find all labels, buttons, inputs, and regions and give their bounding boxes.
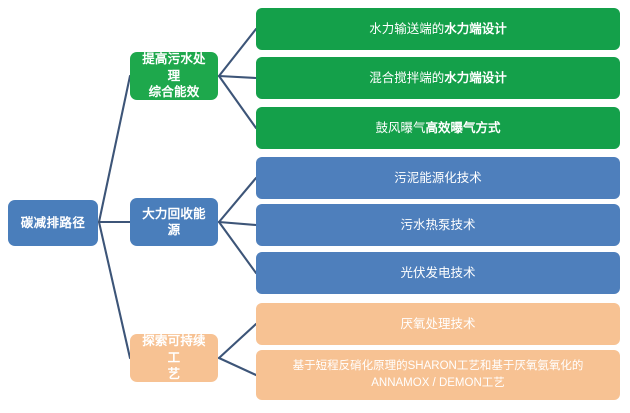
leaf-node-label: 光伏发电技术: [262, 265, 614, 282]
leaf-node-label: 混合搅拌端的水力端设计: [262, 70, 614, 87]
leaf-label-prefix: 鼓风曝气: [375, 121, 425, 135]
leaf-node-sludge-energy-technology[interactable]: 污泥能源化技术: [256, 157, 620, 199]
leaf-label-line2: ANNAMOX / DEMON工艺: [371, 377, 505, 389]
branch-node-sustainable-process[interactable]: 探索可持续工艺: [130, 334, 218, 382]
leaf-node-sewage-heat-pump-technology[interactable]: 污水热泵技术: [256, 204, 620, 246]
root-node-carbon-reduction-path[interactable]: 碳减排路径: [8, 200, 98, 246]
branch-label-line1: 探索可持续工: [142, 334, 206, 365]
branch-node-label: 提高污水处理综合能效: [136, 51, 212, 101]
leaf-node-label: 污泥能源化技术: [262, 170, 614, 187]
leaf-node-hydraulic-transport-design[interactable]: 水力输送端的水力端设计: [256, 8, 620, 50]
leaf-node-label: 污水热泵技术: [262, 217, 614, 234]
leaf-node-mixing-stirring-design[interactable]: 混合搅拌端的水力端设计: [256, 57, 620, 99]
leaf-node-label: 厌氧处理技术: [262, 316, 614, 333]
leaf-node-anaerobic-treatment-technology[interactable]: 厌氧处理技术: [256, 303, 620, 345]
leaf-node-label: 鼓风曝气高效曝气方式: [262, 120, 614, 137]
branch-node-recover-energy[interactable]: 大力回收能源: [130, 198, 218, 246]
edge-branch-1-leaf-1: [219, 29, 256, 76]
edge-branch-1-leaf-3: [219, 76, 256, 128]
edge-branch-1-leaf-2: [219, 76, 256, 78]
edge-root-to-branch-1: [99, 76, 130, 222]
leaf-node-blower-aeration-method[interactable]: 鼓风曝气高效曝气方式: [256, 107, 620, 149]
edge-branch-2-leaf-3: [219, 222, 256, 273]
leaf-node-photovoltaic-power-technology[interactable]: 光伏发电技术: [256, 252, 620, 294]
branch-label-line1: 提高污水处理: [142, 52, 206, 83]
branch-node-improve-efficiency[interactable]: 提高污水处理综合能效: [130, 52, 218, 100]
leaf-node-sharon-annamox-demon-process[interactable]: 基于短程反硝化原理的SHARON工艺和基于厌氧氨氧化的ANNAMOX / DEM…: [256, 350, 620, 400]
root-node-label: 碳减排路径: [14, 215, 92, 232]
leaf-node-label: 基于短程反硝化原理的SHARON工艺和基于厌氧氨氧化的ANNAMOX / DEM…: [262, 358, 614, 391]
edge-branch-2-leaf-1: [219, 178, 256, 222]
leaf-label-prefix: 混合搅拌端的: [369, 71, 444, 85]
leaf-node-label: 水力输送端的水力端设计: [262, 21, 614, 38]
edge-branch-3-leaf-2: [219, 358, 256, 375]
leaf-label-emphasis: 水力端设计: [444, 71, 507, 85]
leaf-label-emphasis: 水力端设计: [444, 22, 507, 36]
mindmap-canvas: 碳减排路径 提高污水处理综合能效 大力回收能源 探索可持续工艺 水力输送端的水力…: [0, 0, 630, 413]
edge-root-to-branch-3: [99, 222, 130, 358]
branch-node-label: 探索可持续工艺: [136, 333, 212, 383]
branch-node-label: 大力回收能源: [136, 206, 212, 239]
edge-branch-2-leaf-2: [219, 222, 256, 225]
branch-label-line2: 综合能效: [149, 85, 200, 99]
leaf-label-emphasis: 高效曝气方式: [426, 121, 501, 135]
edge-branch-3-leaf-1: [219, 324, 256, 358]
leaf-label-line1: 基于短程反硝化原理的SHARON工艺和基于厌氧氨氧化的: [293, 360, 584, 372]
branch-label-line2: 艺: [168, 367, 181, 381]
leaf-label-prefix: 水力输送端的: [369, 22, 444, 36]
